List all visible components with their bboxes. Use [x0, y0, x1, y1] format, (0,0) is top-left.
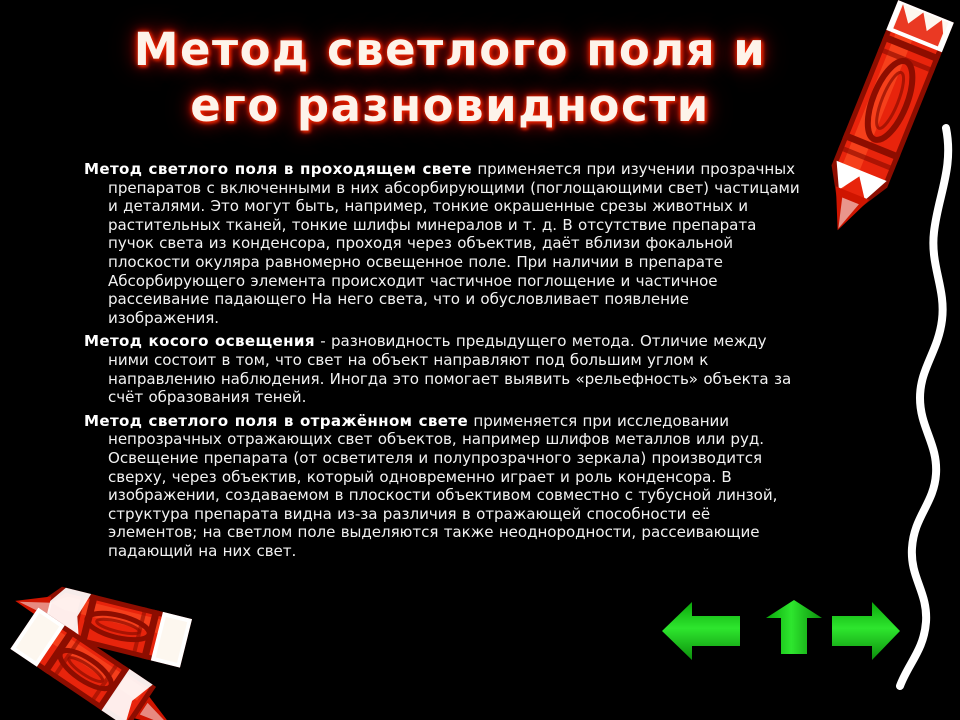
body-text-block: Метод светлого поля в проходящем свете п…: [84, 160, 800, 565]
title-line-1: Метод светлого поля и: [70, 22, 830, 78]
paragraph-body-1: применяется при изучении прозрачных преп…: [108, 160, 800, 327]
paragraph-lead-2: Метод косого освещения: [84, 332, 315, 350]
paragraph-bright-field-transmitted: Метод светлого поля в проходящем свете п…: [84, 160, 800, 327]
page-title: Метод светлого поля и его разновидности: [70, 22, 830, 134]
green-arrow-up-icon: [766, 600, 822, 654]
paragraph-oblique-illumination: Метод косого освещения - разновидность п…: [84, 332, 800, 406]
paragraph-lead-1: Метод светлого поля в проходящем свете: [84, 160, 472, 178]
title-line-2: его разновидности: [70, 78, 830, 134]
red-crayons-pair-icon: [2, 578, 217, 720]
paragraph-lead-3: Метод светлого поля в отражённом свете: [84, 412, 468, 430]
green-arrow-left-icon: [662, 602, 740, 660]
green-arrows-group: [660, 596, 900, 666]
green-arrow-right-icon: [832, 602, 900, 660]
paragraph-bright-field-reflected: Метод светлого поля в отражённом свете п…: [84, 412, 800, 561]
slide-canvas: Метод светлого поля и его разновидности …: [0, 0, 960, 720]
paragraph-body-3: применяется при исследовании непрозрачны…: [108, 412, 777, 560]
